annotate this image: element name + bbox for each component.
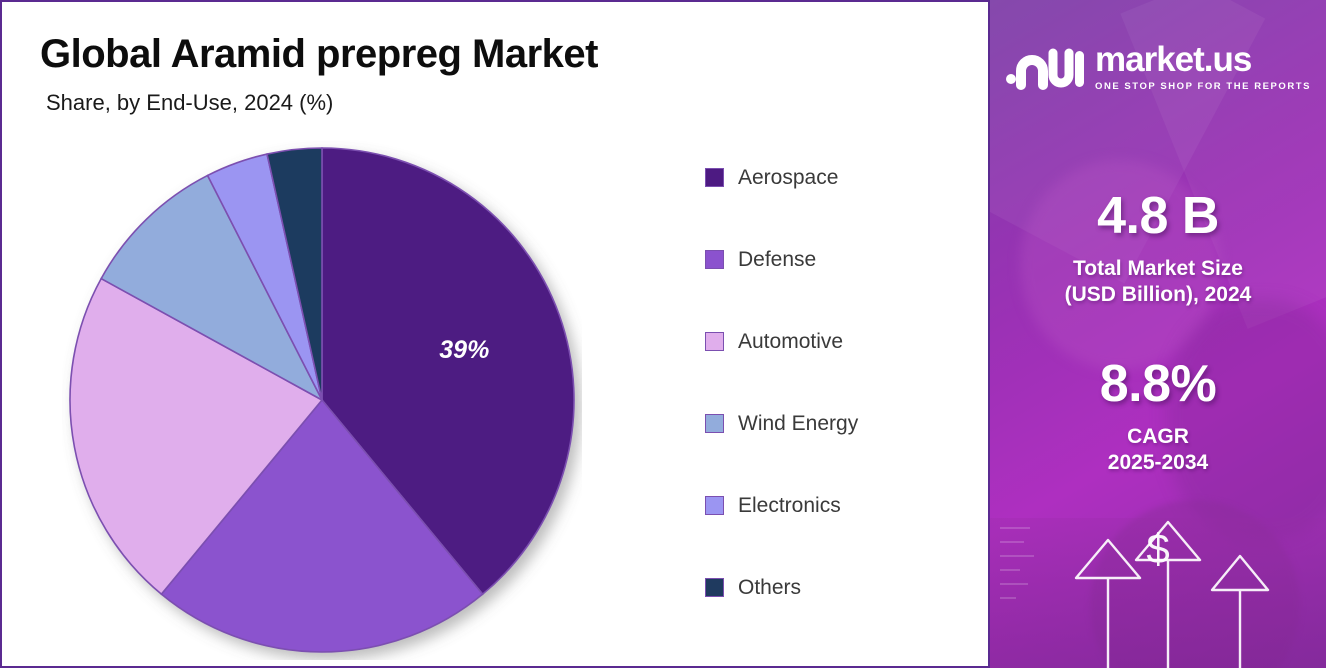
legend-item-aerospace[interactable]: Aerospace — [705, 136, 975, 218]
up-arrow-outline-icon — [1212, 556, 1268, 668]
stat-market-size: 4.8 B Total Market Size (USD Billion), 2… — [990, 190, 1326, 307]
legend-swatch-icon — [705, 332, 724, 351]
legend-swatch-icon — [705, 250, 724, 269]
page-subtitle: Share, by End-Use, 2024 (%) — [46, 90, 950, 116]
pie-slices-group — [70, 148, 574, 652]
legend-item-electronics[interactable]: Electronics — [705, 464, 975, 546]
page-title: Global Aramid prepreg Market — [40, 32, 950, 76]
legend-label: Defense — [738, 249, 816, 270]
logo-tagline: ONE STOP SHOP FOR THE REPORTS — [1095, 82, 1311, 92]
market-us-logo-icon — [1005, 43, 1085, 91]
stat-cagr: 8.8% CAGR 2025-2034 — [990, 358, 1326, 475]
legend-item-others[interactable]: Others — [705, 546, 975, 628]
legend-swatch-icon — [705, 168, 724, 187]
legend-label: Automotive — [738, 331, 843, 352]
legend-swatch-icon — [705, 414, 724, 433]
slice-label-aerospace: 39% — [439, 336, 489, 364]
title-block: Global Aramid prepreg Market Share, by E… — [40, 32, 950, 116]
legend-label: Others — [738, 577, 801, 598]
legend-label: Electronics — [738, 495, 841, 516]
stat-value: 4.8 B — [990, 190, 1326, 242]
stat-caption-line2: (USD Billion), 2024 — [990, 282, 1326, 308]
stat-caption-line1: Total Market Size — [990, 256, 1326, 282]
legend-label: Wind Energy — [738, 413, 858, 434]
chart-panel: Global Aramid prepreg Market Share, by E… — [0, 0, 990, 668]
stat-caption-line1: CAGR — [990, 424, 1326, 450]
legend-item-automotive[interactable]: Automotive — [705, 300, 975, 382]
pie-chart: 39% — [62, 140, 582, 660]
infographic-root: Global Aramid prepreg Market Share, by E… — [0, 0, 1326, 668]
legend-swatch-icon — [705, 496, 724, 515]
legend-item-wind-energy[interactable]: Wind Energy — [705, 382, 975, 464]
stat-value: 8.8% — [990, 358, 1326, 410]
legend-label: Aerospace — [738, 167, 838, 188]
logo-wordmark: market.us — [1095, 42, 1311, 77]
pie-chart-svg: 39% — [62, 140, 582, 660]
brand-panel: market.us ONE STOP SHOP FOR THE REPORTS … — [990, 0, 1326, 668]
legend-swatch-icon — [705, 578, 724, 597]
stat-caption-line2: 2025-2034 — [990, 450, 1326, 476]
legend-item-defense[interactable]: Defense — [705, 218, 975, 300]
brand-logo[interactable]: market.us ONE STOP SHOP FOR THE REPORTS — [990, 42, 1326, 92]
logo-text-block: market.us ONE STOP SHOP FOR THE REPORTS — [1095, 42, 1311, 92]
growth-arrows-art — [990, 518, 1326, 668]
chart-legend: Aerospace Defense Automotive Wind Energy… — [705, 136, 975, 628]
up-arrow-outline-icon — [1076, 540, 1140, 668]
up-arrow-outline-icon — [1136, 522, 1200, 668]
